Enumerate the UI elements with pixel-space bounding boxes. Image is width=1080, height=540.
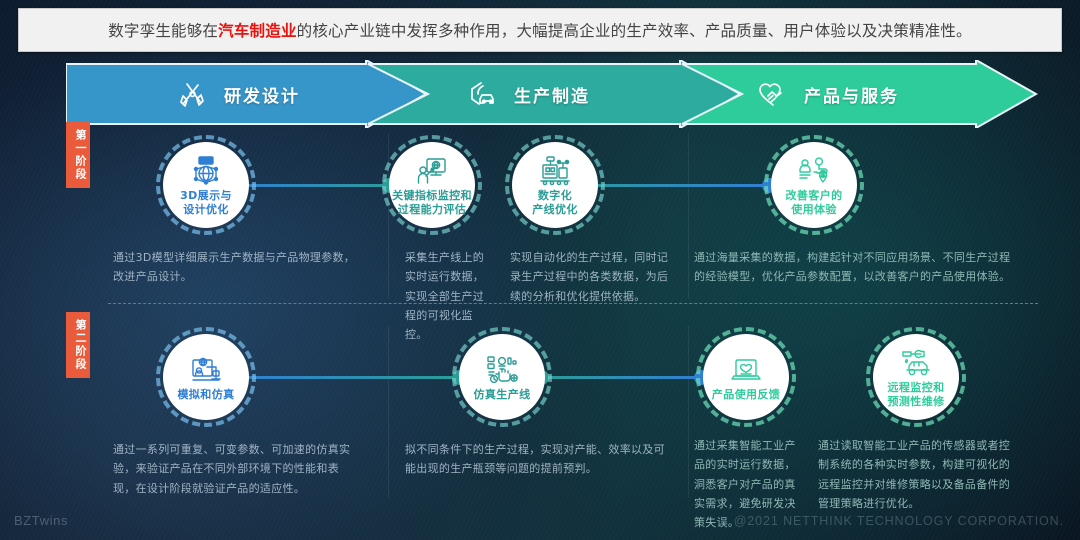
headline-text: 数字孪生能够在汽车制造业的核心产业链中发挥多种作用，大幅提高企业的生产效率、产品… <box>108 19 972 41</box>
ribbon-shapes <box>66 60 1038 128</box>
dashed-ring <box>764 135 864 235</box>
headline-banner: 数字孪生能够在汽车制造业的核心产业链中发挥多种作用，大幅提高企业的生产效率、产品… <box>18 8 1062 52</box>
card-desc-r2c2: 拟不同条件下的生产过程，实现对产能、效率以及可能出现的生产瓶颈等问题的提前预判。 <box>405 440 673 479</box>
card-circle-r2c3[interactable]: 产品使用反馈 <box>703 334 789 420</box>
card-desc-r1c1: 通过3D模型详细展示生产数据与产品物理参数，改进产品设计。 <box>113 248 356 287</box>
column-rule-4 <box>688 326 689 498</box>
card-circle-r2c4[interactable]: 远程监控和 预测性维修 <box>873 334 959 420</box>
card-circle-r2c2[interactable]: 仿真生产线 <box>459 334 545 420</box>
footer-copyright: @2021 NETTHINK TECHNOLOGY CORPORATION. <box>734 514 1064 528</box>
column-rule-2 <box>688 134 689 299</box>
headline-highlight: 汽车制造业 <box>218 22 297 40</box>
dashed-ring <box>866 327 966 427</box>
card-circle-r1c1[interactable]: 3D 3D展示与 设计优化 <box>163 142 249 228</box>
card-circle-r1c4[interactable]: 改善客户的 使用体验 <box>771 142 857 228</box>
column-rule-3 <box>388 326 389 498</box>
dashed-ring <box>382 135 482 235</box>
dashed-ring <box>156 327 256 427</box>
rail-r2-b <box>540 376 702 379</box>
card-circle-r1c2[interactable]: 关键指标监控和 过程能力评估 <box>389 142 475 228</box>
card-desc-r1c3: 实现自动化的生产过程，同时记录生产过程中的各类数据，为后续的分析和优化提供依据。 <box>510 248 673 306</box>
infographic-canvas: 数字孪生能够在汽车制造业的核心产业链中发挥多种作用，大幅提高企业的生产效率、产品… <box>0 0 1080 540</box>
card-desc-r1c2: 采集生产线上的实时运行数据，实现全部生产过程的可视化监控。 <box>405 248 495 344</box>
headline-suffix: 的核心产业链中发挥多种作用，大幅提高企业的生产效率、产品质量、用户体验以及决策精… <box>297 22 972 40</box>
dashed-ring <box>452 327 552 427</box>
phase-divider <box>108 303 1038 304</box>
phase-tag-1: 第一阶段 <box>66 122 90 188</box>
headline-prefix: 数字孪生能够在 <box>108 22 218 40</box>
dashed-ring <box>696 327 796 427</box>
card-circle-r2c1[interactable]: 模拟和仿真 <box>163 334 249 420</box>
card-circle-r1c3[interactable]: 数字化 产线优化 <box>512 142 598 228</box>
card-desc-r1c4: 通过海量采集的数据，构建起针对不同应用场景、不同生产过程的经验模型，优化产品参数… <box>694 248 1016 287</box>
process-arrow-ribbon: 研发设计 生产制造 <box>66 60 1038 128</box>
card-desc-r2c4: 通过读取智能工业产品的传感器或者控制系统的各种实时参数，构建可视化的远程监控并对… <box>818 436 1016 513</box>
phase-tag-2: 第二阶段 <box>66 312 90 378</box>
rail-r2-a <box>228 376 460 379</box>
arrow-shape-rd[interactable] <box>66 60 426 128</box>
dashed-ring <box>156 135 256 235</box>
dashed-ring <box>505 135 605 235</box>
footer-brand: BZTwins <box>14 513 68 528</box>
card-desc-r2c1: 通过一系列可重复、可变参数、可加速的仿真实验，来验证产品在不同外部环境下的性能和… <box>113 440 356 498</box>
